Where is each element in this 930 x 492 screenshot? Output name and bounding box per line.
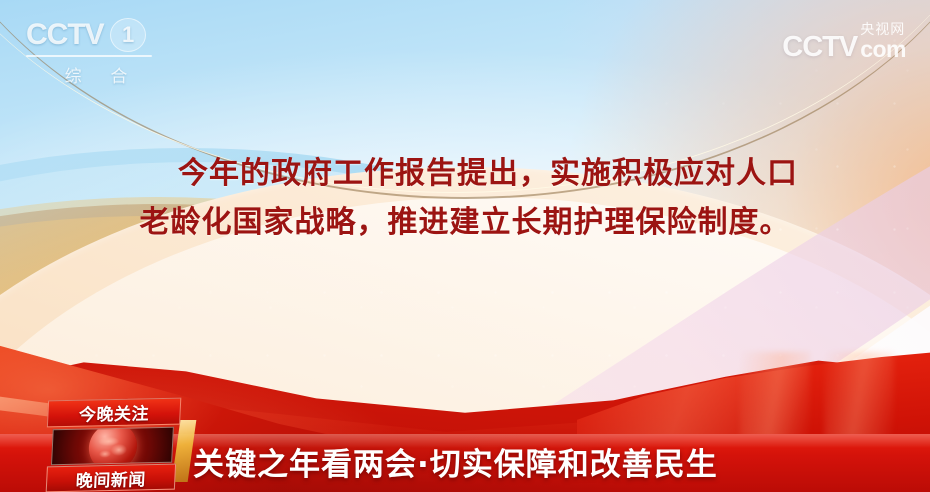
channel-logo-subtitle: 综 合 [26, 62, 166, 87]
quote-text: 今年的政府工作报告提出，实施积极应对人口 老龄化国家战略，推进建立长期护理保险制… [0, 150, 930, 247]
badge-bottom-text: 晚间新闻 [75, 465, 146, 491]
channel-logo-mark: CCTV [26, 20, 104, 50]
web-logo-cn: 央视网 [860, 22, 905, 36]
banner-title: 关键之年看两会·切实保障和改善民生 [193, 439, 718, 484]
web-logo-mark: CCTV [782, 34, 857, 61]
web-logo-com: com [860, 38, 906, 61]
channel-logo-number: 1 [110, 18, 146, 52]
channel-logo-cctv1: CCTV 1 综 合 [26, 18, 166, 87]
web-logo-cctv-com: CCTV 央视网 com [782, 22, 906, 61]
badge-artwork [51, 427, 174, 466]
quote-line-1: 今年的政府工作报告提出，实施积极应对人口 [0, 150, 930, 199]
globe-icon [87, 427, 137, 466]
badge-top-label: 今晚关注 [47, 398, 181, 428]
badge-bottom-label: 晚间新闻 [46, 464, 176, 492]
badge-top-text: 今晚关注 [78, 399, 149, 425]
quote-line-2: 老龄化国家战略，推进建立长期护理保险制度。 [0, 199, 930, 248]
program-badge: 今晚关注 晚间新闻 [44, 398, 182, 492]
broadcast-frame: CCTV 1 综 合 CCTV 央视网 com 今年的政府工作报告提出，实施积极… [0, 0, 930, 492]
channel-logo-underline [26, 55, 152, 57]
